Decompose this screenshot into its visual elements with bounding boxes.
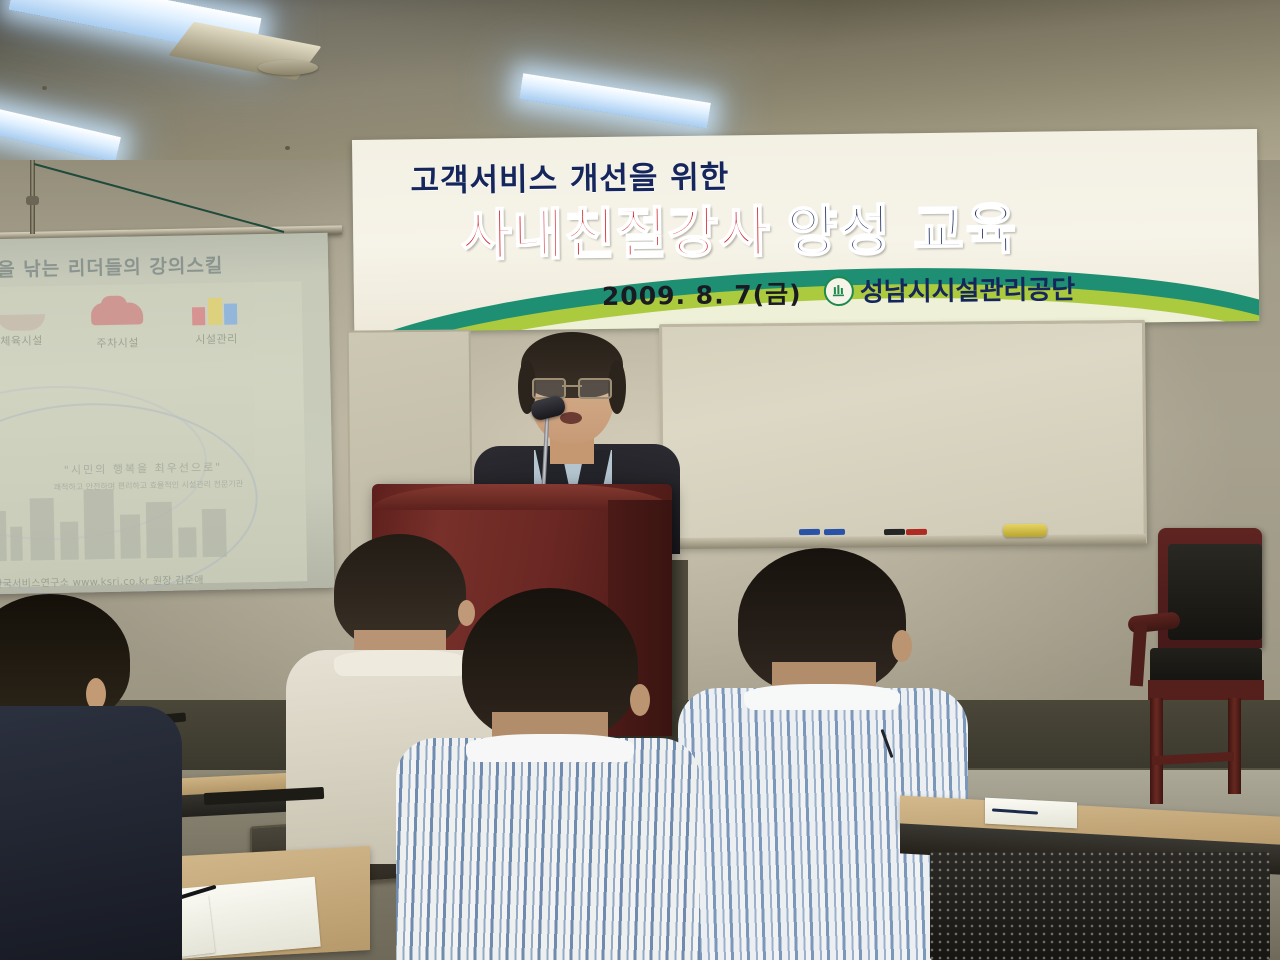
red-marker-icon bbox=[906, 529, 927, 535]
attendee-collar bbox=[466, 734, 634, 762]
banner-organization: 성남시시설관리공단 bbox=[824, 269, 1076, 309]
armchair-apron bbox=[1148, 680, 1264, 700]
slide-title: …을 낚는 리더들의 강의스킬 bbox=[0, 249, 327, 283]
attendee-dark-suit bbox=[0, 706, 182, 960]
organization-name: 성남시시설관리공단 bbox=[860, 269, 1076, 309]
ceiling-fixture-dot bbox=[285, 146, 290, 150]
whiteboard-eraser-icon bbox=[1003, 524, 1047, 537]
armchair-back-cushion bbox=[1168, 544, 1262, 640]
armchair-leg bbox=[1150, 698, 1163, 804]
screen-support-wire bbox=[32, 162, 290, 234]
armchair-arm-post bbox=[1130, 624, 1147, 687]
banner-title: 사내친절강사양성 교육 bbox=[461, 184, 1019, 271]
attendee-collar bbox=[744, 684, 900, 710]
attendee-ear bbox=[630, 684, 650, 716]
wooden-armchair bbox=[1132, 528, 1262, 808]
attendee-ear bbox=[892, 630, 912, 662]
whiteboard-main bbox=[659, 320, 1147, 548]
blue-marker-icon bbox=[824, 529, 845, 535]
smoke-detector-icon bbox=[258, 60, 318, 75]
facility-management-icon bbox=[190, 294, 243, 325]
banner-title-red: 사내친절강사 bbox=[461, 200, 771, 268]
parking-facility-car-icon bbox=[91, 302, 143, 325]
slide-icon-management: 시설관리 bbox=[170, 294, 263, 348]
armchair-leg bbox=[1228, 698, 1241, 794]
banner-date: 2009. 8. 7(금) bbox=[602, 275, 802, 313]
banner-title-navy: 양성 교육 bbox=[786, 197, 1018, 264]
event-banner: 고객서비스 개선을 위한 사내친절강사양성 교육 2009. 8. 7(금) 성… bbox=[352, 129, 1259, 332]
chair-perforated-back bbox=[930, 852, 1270, 960]
armchair-stretcher bbox=[1152, 752, 1234, 765]
photo-scene: 고객서비스 개선을 위한 사내친절강사양성 교육 2009. 8. 7(금) 성… bbox=[0, 0, 1280, 960]
eyeglasses-icon bbox=[532, 378, 612, 395]
speaker-mouth bbox=[560, 412, 582, 424]
attendee-striped-right bbox=[686, 548, 968, 960]
black-marker-icon bbox=[884, 529, 905, 535]
sports-facility-icon bbox=[0, 314, 45, 331]
ceiling-fixture-dot bbox=[42, 86, 47, 90]
slide-icon-row: 체육시설 주차시설 시설관리 bbox=[0, 293, 303, 369]
seongnam-corp-logo-icon bbox=[824, 275, 854, 305]
attendee-front-left bbox=[0, 594, 200, 960]
slide-cityscape-graphic bbox=[0, 460, 261, 562]
slide-body: 체육시설 주차시설 시설관리 "시민의 행복을 최우선으로" 쾌적하고 안전하며… bbox=[0, 281, 307, 587]
attendee-striped-shirt bbox=[396, 738, 700, 960]
blue-marker-icon bbox=[799, 529, 820, 535]
attendee-striped-center bbox=[396, 588, 700, 960]
slide-icon-sports: 체육시설 bbox=[0, 304, 65, 350]
slide-icon-parking: 주차시설 bbox=[74, 296, 161, 352]
